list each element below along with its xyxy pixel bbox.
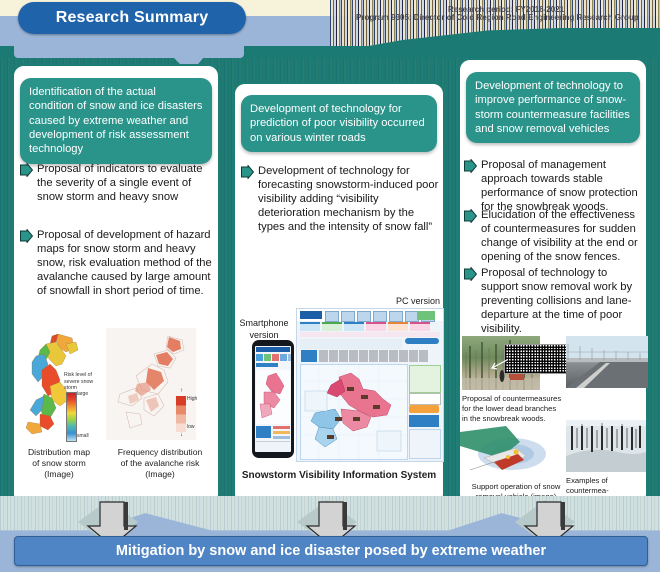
smartphone-version-screenshot [252,340,294,458]
panel-2-bullet-1-text: Development of technology for forecastin… [258,164,439,235]
research-period-label: Research period: FY2016-2021 [448,5,564,14]
pc-version-label: PC version [382,296,440,308]
page-title: Research Summary [18,2,246,34]
snow-storm-legend-low-label: small [77,433,89,439]
pc-version-screenshot [296,308,444,462]
panel-1-heading: Identification of the actual condition o… [20,78,212,164]
arrow-right-icon [20,163,33,177]
panel-3-bullet-3: Proposal of technology to support snow r… [464,266,644,337]
panel-3-bullet-2-text: Elucidation of the effectiveness of coun… [481,208,644,264]
snow-storm-legend-high-label: large [77,391,88,397]
avalanche-legend-bar [176,396,186,432]
distribution-map-caption: Distribution map of snow storm (Image) [16,447,102,481]
snow-fence-road-photo [566,336,648,388]
arrow-left-annotation-icon [488,358,508,372]
panel-2-bullet-1: Development of technology for forecastin… [241,164,439,235]
smartphone-version-label: Smartphone version [236,318,292,341]
program-label: Program 9305: Director of Cold Region Ro… [356,13,639,22]
footer-statement: Mitigation by snow and ice disaster pose… [14,536,648,566]
snowbreak-woods-caption: Proposal of countermeasures for the lowe… [462,394,562,424]
title-backing-band [14,30,244,58]
panel-3-bullet-1: Proposal of management approach towards … [464,158,644,214]
arrow-right-icon [464,159,477,173]
avalanche-legend-up-arrow: ↑ [180,388,183,394]
panel-2-heading: Development of technology for prediction… [241,95,437,152]
frequency-distribution-caption: Frequency distribution of the avalanche … [108,447,212,481]
arrow-right-icon [464,209,477,223]
arrow-right-icon [241,165,254,179]
snowstorm-visibility-system-caption: Snowstorm Visibility Information System [238,469,440,482]
panel-3-heading: Development of technology to improve per… [466,72,640,143]
branch-analysis-qr-inset [504,344,568,374]
panel-3-bullet-1-text: Proposal of management approach towards … [481,158,644,214]
snow-removal-vehicle-support-image [460,424,564,482]
snow-fence-end-countermeasure-photo [566,420,646,472]
avalanche-legend-down-arrow: ↓ [180,432,183,438]
panel-1-bullet-2-text: Proposal of development of hazard maps f… [37,228,216,299]
avalanche-legend-low-label: low [187,424,195,430]
panel-3-bullet-2: Elucidation of the effectiveness of coun… [464,208,644,264]
snow-storm-legend-bar [66,392,77,442]
avalanche-legend-high-label: High [187,396,197,402]
poster-root: Program 9305: Director of Cold Region Ro… [0,0,660,572]
arrow-right-icon [464,267,477,281]
panel-1-bullet-1: Proposal of indicators to evaluate the s… [20,162,216,204]
snow-storm-legend-title: Risk level of severe snow storm [64,372,98,392]
panel-3-bullet-3-text: Proposal of technology to support snow r… [481,266,644,337]
arrow-right-icon [20,229,33,243]
panel-1-bullet-2: Proposal of development of hazard maps f… [20,228,216,299]
panel-1-bullet-1-text: Proposal of indicators to evaluate the s… [37,162,216,204]
